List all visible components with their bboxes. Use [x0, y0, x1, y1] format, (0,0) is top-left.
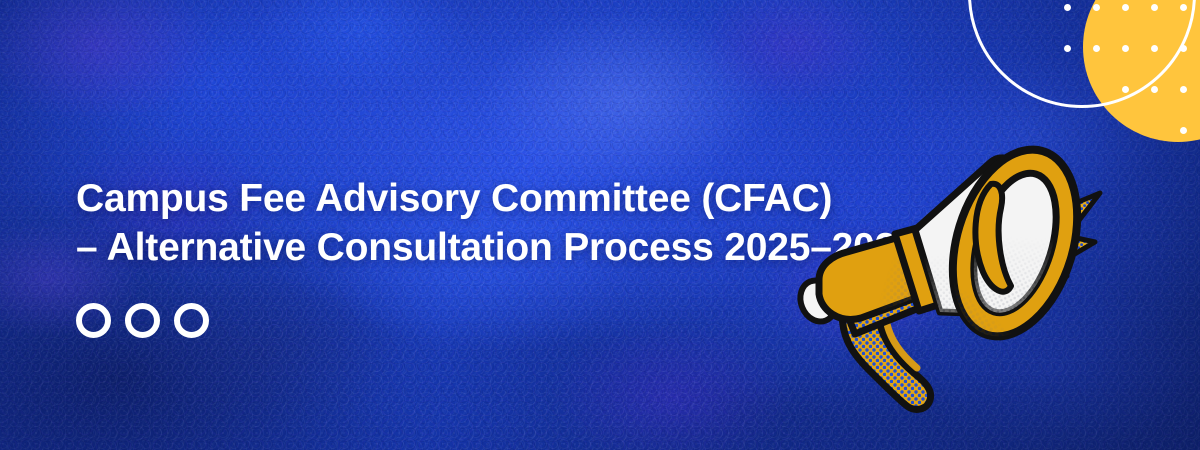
grid-dot: [1093, 4, 1100, 11]
megaphone-illustration: [795, 138, 1105, 428]
white-dot-grid-pattern: [1064, 4, 1200, 152]
ring-decoration-group: [76, 303, 209, 338]
ring-3: [174, 303, 209, 338]
grid-dot: [1180, 45, 1187, 52]
ring-2: [125, 303, 160, 338]
grid-dot: [1180, 127, 1187, 134]
headline-line-1: Campus Fee Advisory Committee (CFAC): [76, 177, 832, 220]
grid-dot: [1122, 86, 1129, 93]
grid-dot: [1064, 45, 1071, 52]
cfac-announcement-banner: Campus Fee Advisory Committee (CFAC) – A…: [0, 0, 1200, 450]
grid-dot: [1122, 45, 1129, 52]
grid-dot: [1093, 45, 1100, 52]
ring-1: [76, 303, 111, 338]
grid-dot: [1122, 4, 1129, 11]
grid-dot: [1180, 4, 1187, 11]
grid-dot: [1151, 4, 1158, 11]
grid-dot: [1151, 86, 1158, 93]
grid-dot: [1180, 86, 1187, 93]
grid-dot: [1151, 45, 1158, 52]
grid-dot: [1064, 4, 1071, 11]
